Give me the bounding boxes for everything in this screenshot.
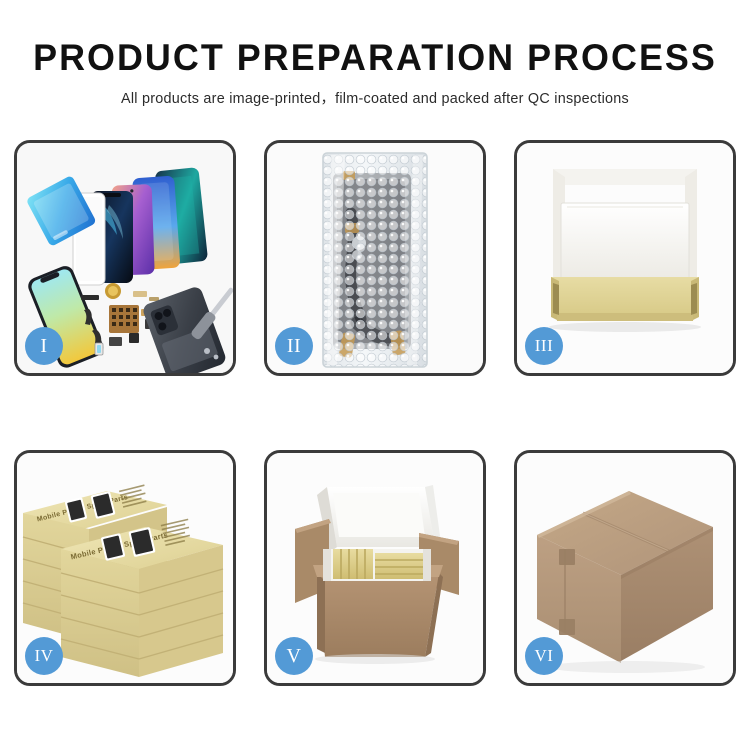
step-badge-3: III [525, 327, 563, 365]
step-panel-6[interactable]: VI [514, 450, 736, 686]
step-badge-2: II [275, 327, 313, 365]
step-badge-5: V [275, 637, 313, 675]
step-panel-2[interactable]: II [264, 140, 486, 376]
step-badge-6: VI [525, 637, 563, 675]
step-panel-3[interactable]: III [514, 140, 736, 376]
page-header: PRODUCT PREPARATION PROCESS All products… [0, 0, 750, 108]
step-panel-1[interactable]: I [14, 140, 236, 376]
step-badge-1: I [25, 327, 63, 365]
step-panel-4[interactable]: Mobile Phone Spare Parts [14, 450, 236, 686]
step-panel-5[interactable]: V [264, 450, 486, 686]
page-title: PRODUCT PREPARATION PROCESS [11, 0, 739, 78]
page-subtitle: All products are image-printed，film-coat… [0, 78, 750, 108]
step-badge-4: IV [25, 637, 63, 675]
process-steps-grid: I [14, 140, 736, 686]
